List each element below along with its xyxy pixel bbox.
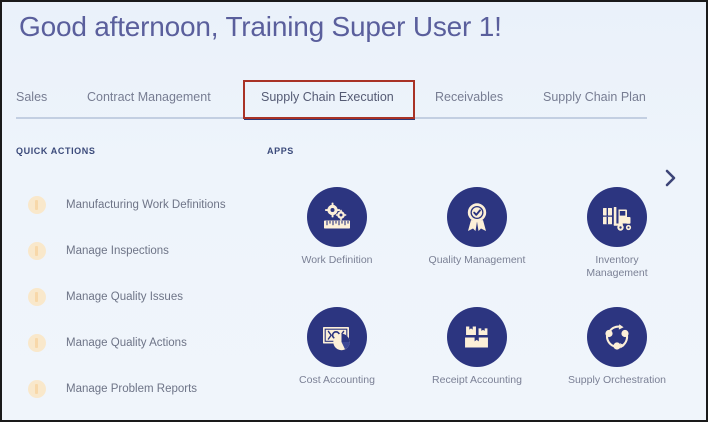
quick-action-icon <box>28 242 46 260</box>
gears-ruler-icon <box>307 187 367 247</box>
chevron-right-icon[interactable] <box>661 168 681 188</box>
tab-supply-chain-plan[interactable]: Supply Chain Plan <box>543 90 646 104</box>
quick-action-icon <box>28 380 46 398</box>
apps-grid: Work Definition Quality Management <box>267 187 687 422</box>
quick-action-label: Manage Quality Issues <box>66 291 183 303</box>
tab-supply-chain-execution[interactable]: Supply Chain Execution <box>261 90 394 104</box>
app-tile-receipt-accounting[interactable]: Receipt Accounting <box>407 307 547 422</box>
apps-heading: APPS <box>267 146 294 156</box>
quick-action-label: Manage Inspections <box>66 245 169 257</box>
tab-receivables[interactable]: Receivables <box>435 90 503 104</box>
app-label: Quality Management <box>429 254 526 267</box>
quick-action-manage-problem-reports[interactable]: Manage Problem Reports <box>16 366 256 412</box>
app-tile-inventory-management[interactable]: Inventory Management <box>547 187 687 307</box>
quick-action-label: Manage Problem Reports <box>66 383 197 395</box>
tab-sales[interactable]: Sales <box>16 90 47 104</box>
app-tile-supply-orchestration[interactable]: Supply Orchestration <box>547 307 687 422</box>
tab-contract-management[interactable]: Contract Management <box>87 90 211 104</box>
banknote-piechart-icon <box>307 307 367 367</box>
circular-nodes-icon <box>587 307 647 367</box>
quick-action-icon <box>28 334 46 352</box>
app-tile-cost-accounting[interactable]: Cost Accounting <box>267 307 407 422</box>
quick-action-icon <box>28 196 46 214</box>
app-tile-work-definition[interactable]: Work Definition <box>267 187 407 307</box>
forklift-icon <box>587 187 647 247</box>
tab-active-indicator <box>244 117 415 120</box>
quick-actions-heading: QUICK ACTIONS <box>16 146 95 156</box>
quick-action-label: Manufacturing Work Definitions <box>66 199 226 211</box>
stacked-boxes-icon <box>447 307 507 367</box>
quick-action-manufacturing-work-definitions[interactable]: Manufacturing Work Definitions <box>16 182 256 228</box>
page-title: Good afternoon, Training Super User 1! <box>19 11 502 43</box>
app-label: Receipt Accounting <box>432 374 522 387</box>
app-label: Work Definition <box>302 254 373 267</box>
quick-actions-list: Manufacturing Work Definitions Manage In… <box>16 182 256 412</box>
quick-action-manage-inspections[interactable]: Manage Inspections <box>16 228 256 274</box>
app-label: Inventory Management <box>565 254 669 280</box>
quick-action-manage-quality-issues[interactable]: Manage Quality Issues <box>16 274 256 320</box>
app-label: Supply Orchestration <box>568 374 666 387</box>
application-window: Good afternoon, Training Super User 1! S… <box>0 0 708 422</box>
quick-action-label: Manage Quality Actions <box>66 337 187 349</box>
app-label: Cost Accounting <box>299 374 375 387</box>
quick-action-icon <box>28 288 46 306</box>
award-ribbon-check-icon <box>447 187 507 247</box>
app-tile-quality-management[interactable]: Quality Management <box>407 187 547 307</box>
quick-action-manage-quality-actions[interactable]: Manage Quality Actions <box>16 320 256 366</box>
tab-bar: Sales Contract Management Supply Chain E… <box>2 80 708 120</box>
